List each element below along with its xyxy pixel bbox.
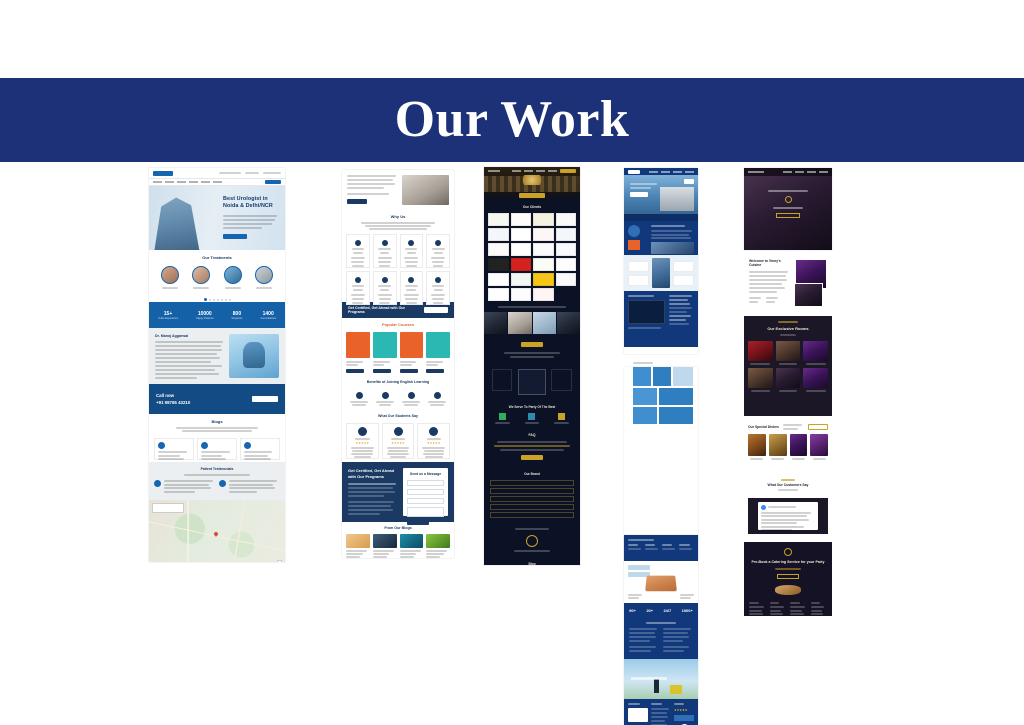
mockup-4-construction-website-part-3[interactable] (624, 367, 698, 562)
m2-testimonial-card[interactable]: ★★★★★ (382, 423, 415, 459)
m3-client-logo (556, 213, 577, 226)
m4-products (624, 291, 698, 347)
m2-testimonials: What Our Students Say ★★★★★ ★★★★★ ★★★★★ (342, 410, 454, 462)
m4-service-stat (628, 544, 643, 550)
m2-blog-card[interactable] (346, 534, 370, 558)
m3-faq: Our Brand (484, 468, 580, 522)
m3-client-logo (556, 273, 577, 286)
m4-why-card[interactable] (628, 275, 649, 286)
m4-about-text (624, 617, 698, 659)
m4-hero-cta[interactable] (630, 192, 648, 197)
m4-worker-photo (652, 258, 669, 288)
m1-treatment-card[interactable] (192, 266, 210, 291)
m1-treatment-card[interactable] (161, 266, 179, 291)
m2-form-field-name[interactable] (407, 480, 444, 486)
m2-testimonial-card[interactable]: ★★★★★ (417, 423, 450, 459)
m5-hero (744, 168, 832, 250)
mockup-4-construction-website-part-1[interactable] (624, 168, 698, 354)
mockup-5-exclusive-rooms[interactable]: Our Exclusive Rooms (744, 316, 832, 416)
m4-services (624, 221, 698, 255)
m3-services (484, 363, 580, 401)
m5-room-card[interactable] (776, 341, 801, 365)
m2-blog-card[interactable] (426, 534, 450, 558)
m5-welcome-photo-2 (794, 283, 823, 307)
m2-benefit-item (374, 390, 397, 406)
m1-hero: Best Urologist in Noida & Delhi/NCR (149, 186, 285, 250)
m1-navbar[interactable] (149, 178, 285, 186)
m4-service-stat (662, 544, 677, 550)
m3-client-logo (556, 258, 577, 271)
m4-navbar[interactable] (624, 168, 698, 175)
m1-hero-heading: Best Urologist in Noida & Delhi/NCR (223, 196, 279, 211)
m3-client-logo (511, 228, 532, 241)
m2-benefit-item (348, 390, 371, 406)
m2-blogs-heading: From Our Blogs (346, 526, 450, 530)
m2-contact-section: Get Certified, Get Ahead with Our Progra… (342, 462, 454, 522)
m3-client-logo (488, 288, 509, 301)
m4-service-stat (645, 544, 660, 550)
m5-room-card[interactable] (776, 368, 801, 392)
m2-form-field-email[interactable] (407, 489, 444, 495)
m3-photo (508, 312, 531, 334)
m2-feature-card[interactable] (426, 234, 450, 268)
m5-footer-cta-button[interactable] (777, 574, 799, 579)
m1-stat: 15+Years Experience (158, 311, 178, 320)
m3-faq-heading: Our Brand (490, 472, 574, 476)
m3-blog-heading: Blog (488, 562, 576, 565)
m3-client-logo (556, 288, 577, 301)
m5-dish-card[interactable] (810, 434, 828, 460)
m2-form-field-phone[interactable] (407, 498, 444, 504)
m3-client-logo (533, 258, 554, 271)
m4-footer: ★★★★★ (624, 699, 698, 725)
m5-dish-card[interactable] (769, 434, 787, 460)
m2-blog-card[interactable] (400, 534, 424, 558)
m3-client-logo (556, 243, 577, 256)
m3-client-logo (488, 258, 509, 271)
m3-about (484, 334, 580, 363)
m5-review-video[interactable] (748, 498, 828, 534)
m2-feature-card[interactable] (346, 234, 370, 268)
m1-top-bar (149, 168, 285, 178)
m2-intro-cta[interactable] (347, 199, 367, 204)
m3-faq-item[interactable] (490, 512, 574, 518)
m3-client-logo (488, 213, 509, 226)
m1-blogs-heading: Blogs (149, 419, 285, 424)
m1-stat: 800Surgeries (231, 311, 242, 320)
m3-know-more-button[interactable] (521, 342, 543, 347)
m2-form-title: Send us a Message (407, 472, 444, 476)
m3-client-logo (488, 243, 509, 256)
mockup-5-restaurant-website[interactable] (744, 168, 832, 250)
m3-client-logo (533, 273, 554, 286)
m2-popular-courses: Popular Courses (342, 318, 454, 376)
m2-courses-heading: Popular Courses (346, 322, 450, 327)
portfolio-gallery: Best Urologist in Noida & Delhi/NCR Our … (0, 162, 1024, 576)
m2-form-submit-button[interactable] (407, 520, 429, 525)
m1-phone[interactable]: +91 98765 43210 (156, 400, 190, 405)
m5-dish-card[interactable] (748, 434, 766, 460)
m3-client-logo (533, 228, 554, 241)
m5-rooms-heading: Our Exclusive Rooms (748, 326, 828, 331)
m4-hero (624, 175, 698, 221)
mockup-5-reviews[interactable]: What Our Customers Say (744, 474, 832, 538)
slide-banner: Our Work (0, 78, 1024, 162)
m4-why-card[interactable] (673, 261, 694, 272)
m2-blog-card[interactable] (373, 534, 397, 558)
m3-why-item (492, 413, 513, 424)
m3-enquire-button[interactable] (521, 455, 543, 460)
m3-why-heading: We Serve To Party Of The Best (488, 405, 576, 409)
m2-testimonials-heading: What Our Students Say (346, 414, 450, 418)
m2-contact-heading: Get Certified, Get Ahead with Our Progra… (348, 468, 398, 479)
m3-client-logo (488, 228, 509, 241)
m1-map-embed[interactable] (149, 500, 285, 562)
m1-blog-card[interactable] (240, 438, 280, 460)
m3-client-logo (533, 288, 554, 301)
m2-course-card[interactable] (400, 332, 424, 373)
m4-quote-button[interactable] (684, 179, 694, 184)
m2-course-card[interactable] (346, 332, 370, 373)
m1-stat: 10000Happy Patients (196, 311, 214, 320)
m1-stats-strip: 15+Years Experience 10000Happy Patients … (149, 302, 285, 328)
m5-welcome-heading: Welcome to Vinny's Cuisine (749, 259, 790, 267)
m1-treatments: Our Treatments (149, 250, 285, 302)
m5-dishes-heading: Our Special Dishes (748, 425, 779, 429)
m3-client-logo (511, 258, 532, 271)
m1-testimonials-heading: Patient Testimonials (149, 467, 285, 471)
m3-blog: Blog (484, 558, 580, 565)
m4-why-card[interactable] (673, 275, 694, 286)
m5-reviews-heading: What Our Customers Say (748, 483, 828, 487)
m3-client-logo (488, 273, 509, 286)
m2-benefit-item (426, 390, 449, 406)
m3-hero-cta[interactable] (519, 193, 545, 198)
m2-why-us: Why Us (342, 210, 454, 302)
m3-client-logo (511, 213, 532, 226)
m3-client-logo (511, 288, 532, 301)
m3-photo (533, 312, 556, 334)
m3-why-item (521, 413, 542, 424)
mockup-4-construction-website-part-4[interactable]: 90+ 20+ 24/7 1000+ ★★★★★ (624, 535, 698, 725)
m5-room-card[interactable] (748, 368, 773, 392)
m3-faq-item[interactable] (490, 496, 574, 502)
mockup-2-certification-website[interactable]: Why Us Get Certified, Get Ahead with Our… (342, 170, 454, 558)
m3-service-card[interactable] (518, 369, 546, 395)
mockup-5-footer-cta[interactable]: Pre-Book a Catering Service for your Par… (744, 542, 832, 616)
m1-treatment-card[interactable] (255, 266, 273, 291)
m4-counter: 90+ (629, 608, 636, 613)
m2-feature-card[interactable] (426, 271, 450, 305)
m2-benefits: Benefits of Joining English Learning (342, 376, 454, 410)
m1-testimonial-card[interactable] (154, 480, 215, 493)
m3-photo (484, 312, 507, 334)
m3-faq-item[interactable] (490, 504, 574, 510)
m3-why-choose-us: We Serve To Party Of The Best (484, 401, 580, 428)
m3-clients-heading: Our Clients (488, 205, 576, 209)
m5-room-card[interactable] (748, 341, 773, 365)
m3-client-logo (511, 243, 532, 256)
m2-intro-photo (402, 175, 449, 205)
m1-testimonial-card[interactable] (219, 480, 280, 493)
m1-blogs: Blogs (149, 414, 285, 462)
m1-treatment-card[interactable] (224, 266, 242, 291)
m2-view-courses-button[interactable] (424, 307, 448, 313)
m1-call-heading: Call now (156, 393, 190, 398)
m3-faq-item[interactable] (490, 488, 574, 494)
m1-blog-card[interactable] (154, 438, 194, 460)
m4-why-us (624, 255, 698, 291)
m3-photo-strip (484, 312, 580, 334)
m2-feature-card[interactable] (400, 234, 424, 268)
m2-feature-card[interactable] (373, 234, 397, 268)
m3-client-logo (556, 228, 577, 241)
m4-team-banner (624, 659, 698, 699)
mockup-5-welcome-section[interactable]: Welcome to Vinny's Cuisine (744, 254, 832, 312)
m4-why-card[interactable] (628, 261, 649, 272)
m3-client-logo (533, 243, 554, 256)
m4-counters: 90+ 20+ 24/7 1000+ (624, 603, 698, 617)
page-title: Our Work (395, 94, 630, 146)
m1-carousel-dots[interactable] (149, 298, 285, 301)
mockup-3-events-website[interactable]: Our Clients (484, 167, 580, 565)
m1-book-appointment-button[interactable] (252, 396, 278, 402)
m2-benefit-item (400, 390, 423, 406)
m4-counter: 1000+ (682, 608, 693, 613)
m1-hero-cta[interactable] (223, 234, 247, 239)
m5-dish-card[interactable] (790, 434, 808, 460)
m2-testimonial-card[interactable]: ★★★★★ (346, 423, 379, 459)
m1-stat: 1400Consultations (260, 311, 276, 320)
m1-doctor-name: Dr. Manoj Aggarwal (155, 334, 224, 338)
m4-service-stat (679, 544, 694, 550)
m1-doctor-profile: Dr. Manoj Aggarwal (149, 328, 285, 384)
m2-intro (342, 170, 454, 210)
m4-product-detail (624, 561, 698, 603)
m2-feature-card[interactable] (373, 271, 397, 305)
m3-clients: Our Clients (484, 201, 580, 312)
m2-form-field-message[interactable] (407, 507, 444, 517)
m3-faq-item[interactable] (490, 480, 574, 486)
m2-feature-card[interactable] (400, 271, 424, 305)
m1-blog-card[interactable] (197, 438, 237, 460)
m5-hero-cta[interactable] (776, 213, 800, 218)
m2-feature-card[interactable] (346, 271, 370, 305)
m2-course-card[interactable] (426, 332, 450, 373)
m5-room-card[interactable] (803, 368, 828, 392)
m2-benefits-heading: Benefits of Joining English Learning (346, 380, 450, 384)
m2-blogs: From Our Blogs (342, 522, 454, 558)
m3-brand-block (484, 522, 580, 558)
m3-we-serve: FAQ (484, 428, 580, 468)
mockup-1-urologist-website[interactable]: Best Urologist in Noida & Delhi/NCR Our … (149, 168, 285, 562)
m3-serve-heading: FAQ (490, 433, 574, 437)
m2-why-us-heading: Why Us (346, 214, 450, 219)
m3-photo (557, 312, 580, 334)
m4-counter: 24/7 (663, 608, 671, 613)
m3-client-logo (533, 213, 554, 226)
m3-service-card[interactable] (492, 369, 513, 391)
m2-course-card[interactable] (373, 332, 397, 373)
mockup-5-special-dishes[interactable]: Our Special Dishes (744, 420, 832, 470)
m1-testimonials: Patient Testimonials (149, 462, 285, 500)
m4-counter: 20+ (646, 608, 653, 613)
m3-why-item (551, 413, 572, 424)
m5-room-card[interactable] (803, 341, 828, 365)
m4-service-stats (624, 535, 698, 561)
m5-footer-heading: Pre-Book a Catering Service for your Par… (749, 560, 827, 565)
m2-cta-heading: Get Certified, Get Ahead with Our Progra… (348, 306, 416, 314)
m5-view-menu-button[interactable] (808, 424, 828, 430)
m1-call-strip: Call now +91 98765 43210 (149, 384, 285, 414)
m3-client-logo (511, 273, 532, 286)
m3-hero (484, 167, 580, 201)
m3-service-card[interactable] (551, 369, 572, 391)
